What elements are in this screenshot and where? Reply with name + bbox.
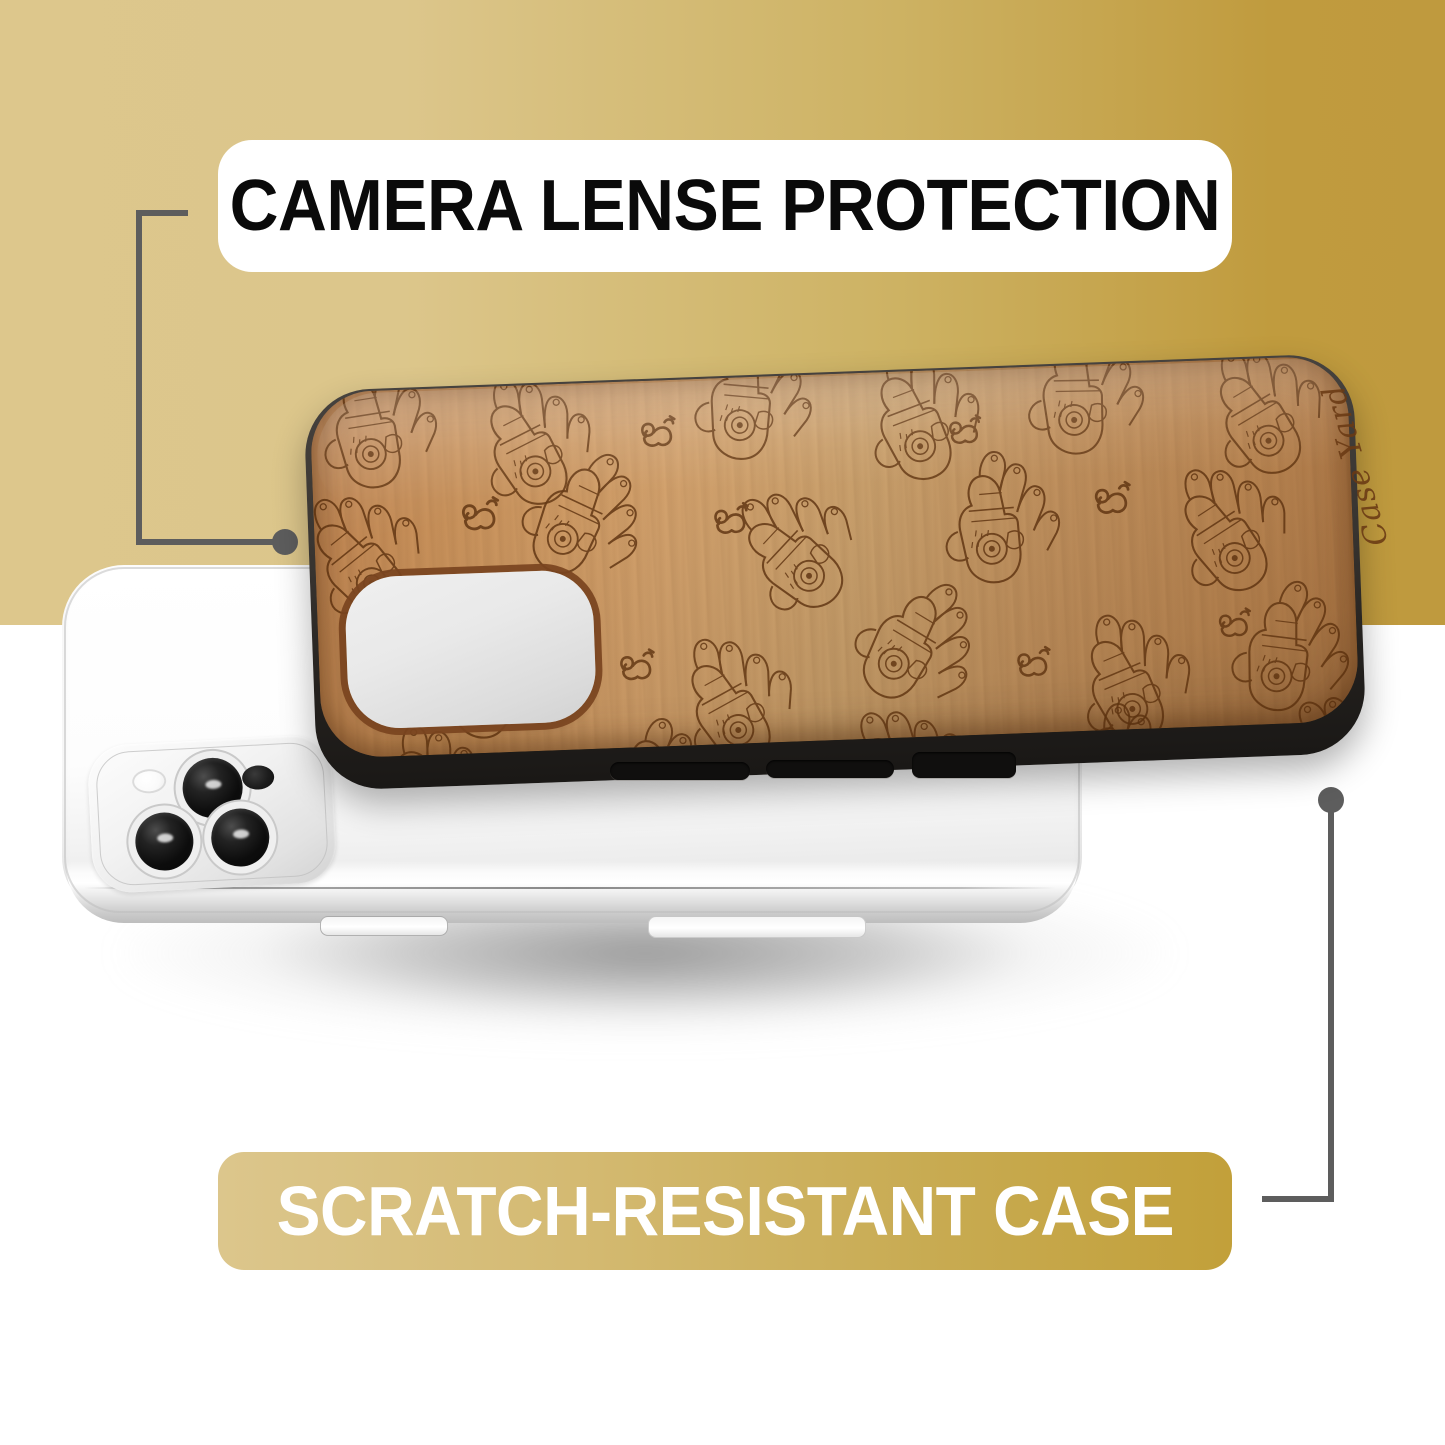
case-speaker-grille-left [610, 762, 750, 780]
callout-connector-bottom-horizontal [1262, 1196, 1334, 1202]
callout-connector-top-stub [136, 210, 188, 216]
callout-label-camera-lens-protection: CAMERA LENSE PROTECTION [230, 165, 1221, 247]
case-speaker-grille-right [766, 760, 894, 778]
callout-connector-top-dot [272, 529, 298, 555]
callout-connector-top-vertical [136, 210, 142, 545]
callout-connector-bottom-vertical [1328, 800, 1334, 1202]
phone-power-button[interactable] [648, 916, 866, 938]
callout-connector-top-horizontal [136, 539, 288, 545]
case-camera-cutout [344, 569, 597, 730]
phone-camera-module [86, 734, 337, 895]
product-feature-graphic: Case Yard CAMERA LENSE PROTECTION SCRATC… [0, 0, 1445, 1445]
phone-volume-button[interactable] [320, 916, 448, 936]
callout-pill-camera-lens-protection: CAMERA LENSE PROTECTION [218, 140, 1232, 272]
callout-pill-scratch-resistant-case: SCRATCH-RESISTANT CASE [218, 1152, 1232, 1270]
wooden-phone-case: Case Yard [303, 353, 1367, 791]
callout-label-scratch-resistant-case: SCRATCH-RESISTANT CASE [276, 1171, 1173, 1251]
case-charging-port-cutout [912, 752, 1016, 778]
